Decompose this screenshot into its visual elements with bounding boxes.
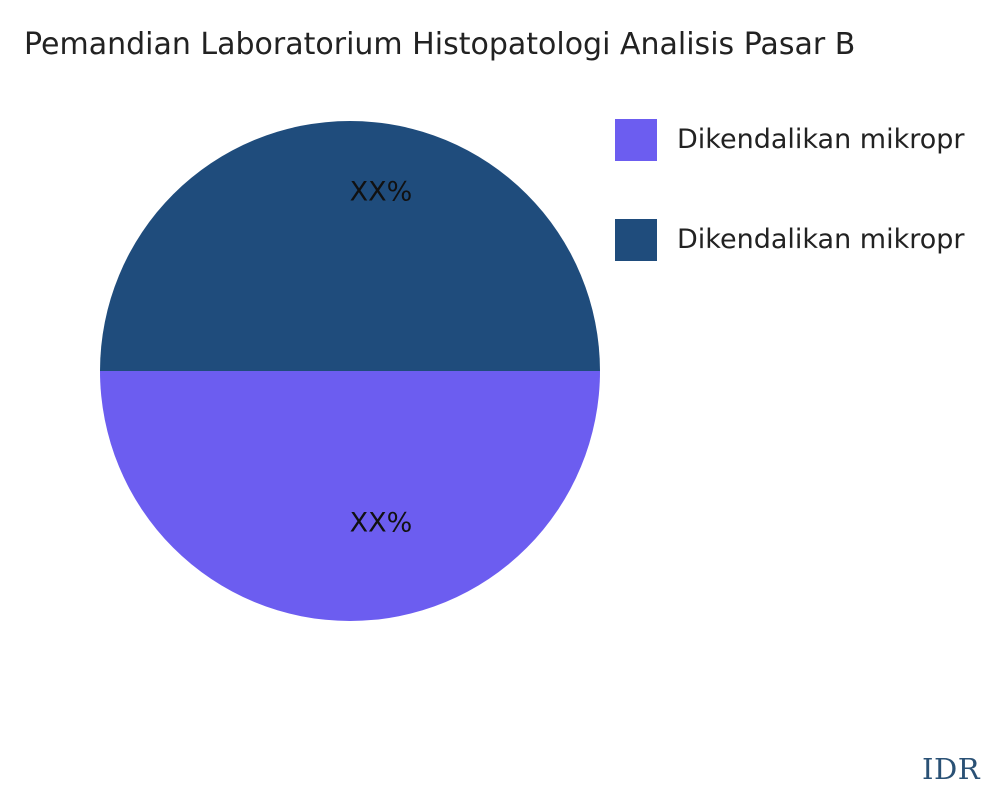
pie-slice-purple[interactable] (100, 371, 600, 621)
pie-slice-navy[interactable] (100, 121, 600, 371)
legend-item-1[interactable]: Dikendalikan mikropr (615, 219, 1000, 261)
chart-canvas: Pemandian Laboratorium Histopatologi Ana… (0, 0, 1000, 800)
pie-slice-label-purple: XX% (350, 508, 413, 539)
page-title: Pemandian Laboratorium Histopatologi Ana… (24, 24, 1000, 66)
legend: Dikendalikan mikropr Dikendalikan mikrop… (615, 119, 1000, 319)
legend-swatch-icon-navy (615, 219, 657, 261)
legend-item-0[interactable]: Dikendalikan mikropr (615, 119, 1000, 161)
legend-item-label-1: Dikendalikan mikropr (677, 219, 964, 261)
pie-chart: XX% XX% (99, 120, 601, 622)
legend-swatch-icon-purple (615, 119, 657, 161)
legend-item-label-0: Dikendalikan mikropr (677, 119, 964, 161)
footer-brand-mark: IDR (922, 752, 980, 786)
pie-slice-label-navy: XX% (350, 177, 413, 208)
